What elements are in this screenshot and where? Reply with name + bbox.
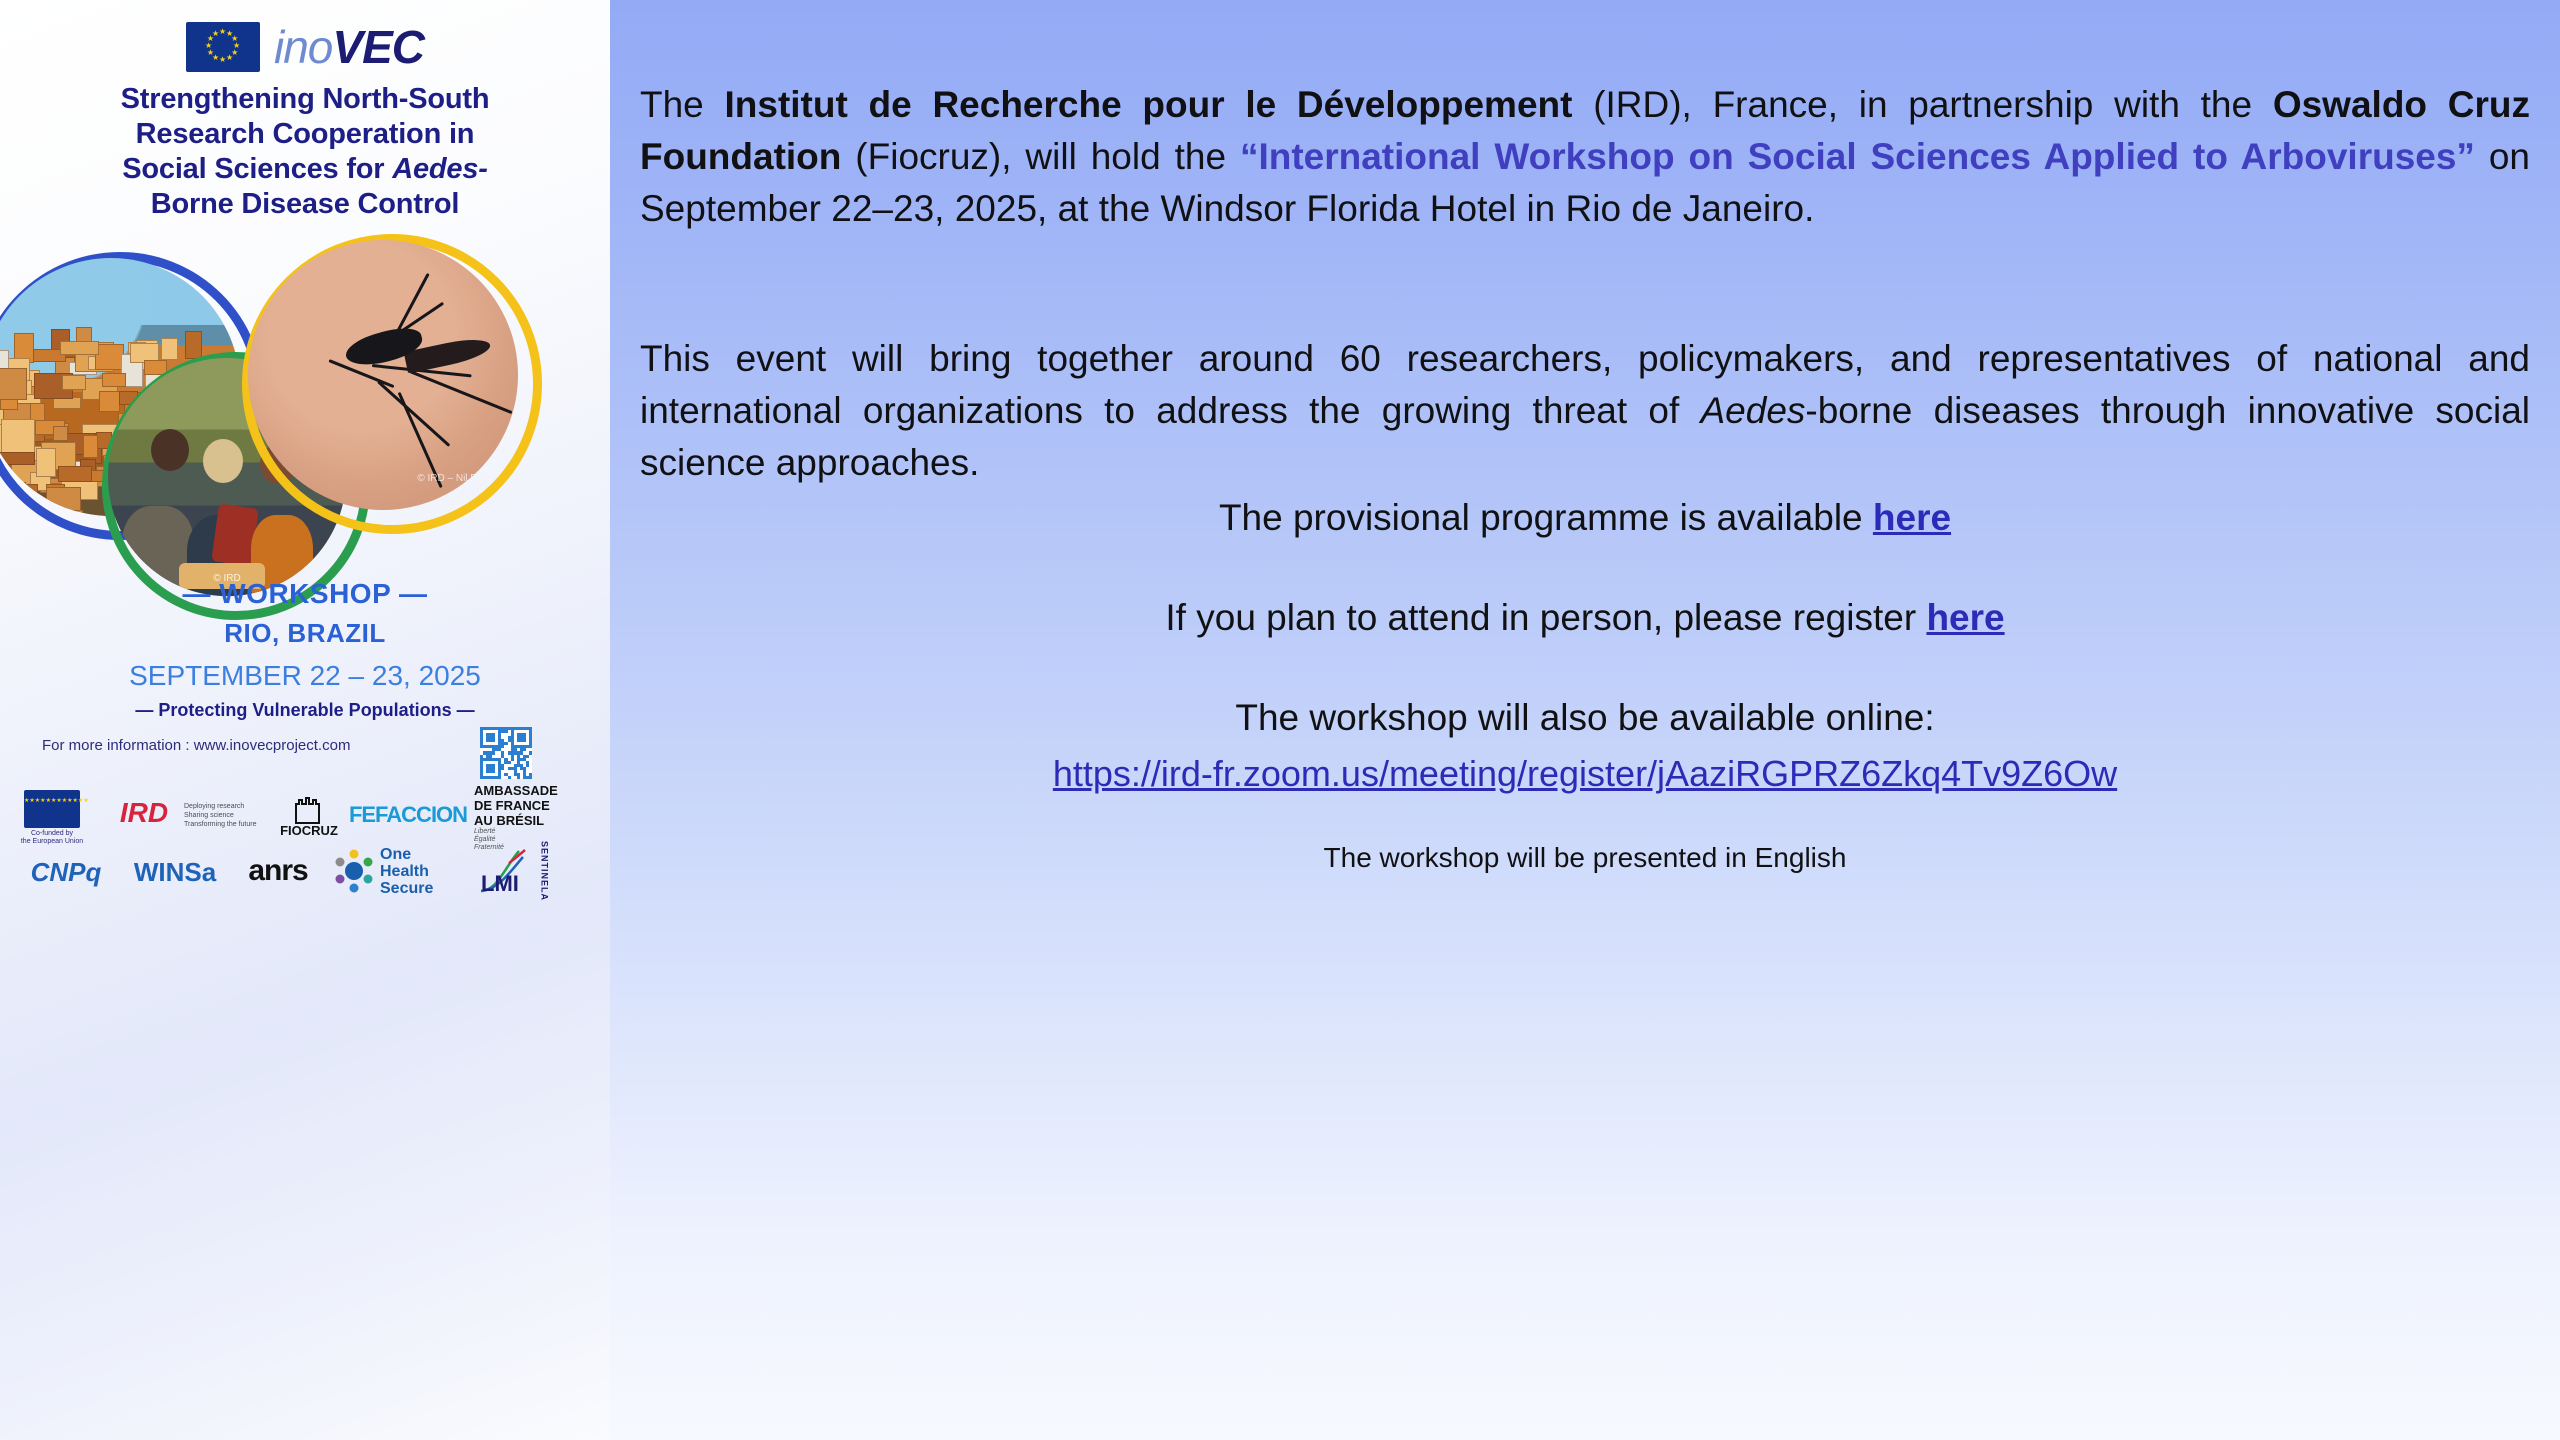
brand-suffix: VEC: [332, 21, 424, 73]
aedes-italic: Aedes: [1700, 390, 1805, 431]
sponsor-caption: Co-funded bythe European Union: [21, 830, 83, 846]
sponsor-fiocruz: FIOCRUZ: [276, 788, 342, 844]
sponsor-european-union: ★★★★★★★★★★★★ Co-funded bythe European Un…: [10, 790, 94, 846]
org-ird: Institut de Recherche pour le Développem…: [725, 84, 1573, 125]
poster-title-line-3: Social Sciences for Aedes-: [14, 152, 596, 187]
sponsor-lmi-sentinela: LMI SENTINELA: [468, 844, 560, 898]
sponsor-label: OneHealthSecure: [380, 846, 433, 897]
workshop-city: RIO, BRAZIL: [0, 618, 610, 649]
sponsor-cnpq: CNPq: [14, 850, 118, 894]
photo-collage: © IRD © IRD – Nil Rahola: [0, 248, 610, 564]
language-line: The workshop will be presented in Englis…: [640, 834, 2530, 882]
programme-link[interactable]: here: [1873, 497, 1951, 538]
aedes-italic: Aedes-: [392, 153, 488, 185]
sponsor-label: AMBASSADEDE FRANCEAU BRÉSIL: [474, 783, 558, 828]
one-health-wheel-icon: [332, 849, 376, 893]
svg-text:LMI: LMI: [481, 871, 519, 895]
workshop-dates: SEPTEMBER 22 – 23, 2025: [0, 660, 610, 692]
poster-title-line-1: Strengthening North-South: [14, 82, 596, 117]
fiocruz-castle-icon: [292, 794, 326, 824]
mosquito-photo-credit: © IRD – Nil Rahola: [417, 473, 502, 484]
register-link[interactable]: here: [1926, 597, 2004, 638]
sponsor-winsa: WINSa: [126, 850, 224, 894]
mosquito-photo: © IRD – Nil Rahola: [248, 240, 518, 510]
poster-title-line-2: Research Cooperation in: [14, 117, 596, 152]
eu-flag-icon: ★★★★★★★★★★★★: [24, 790, 80, 828]
workshop-tagline: — Protecting Vulnerable Populations —: [0, 700, 610, 721]
sponsor-ird: IRD: [108, 792, 180, 834]
sponsor-ambassade-de-france: AMBASSADEDE FRANCEAU BRÉSIL LibertéÉgali…: [474, 786, 578, 848]
sponsor-label: CNPq: [31, 859, 102, 886]
programme-line: The provisional programme is available h…: [640, 494, 2530, 542]
sponsor-label: IRD: [120, 799, 168, 828]
announcement-panel: The Institut de Recherche pour le Dévelo…: [610, 0, 2560, 1440]
eu-flag-icon: ★★★★★★★★★★★★: [186, 22, 260, 72]
zoom-url-line: https://ird-fr.zoom.us/meeting/register/…: [640, 750, 2530, 798]
brand-prefix: ino: [274, 21, 332, 73]
sponsor-label: anrs: [248, 856, 307, 887]
sponsor-label: FEFACCION: [349, 804, 467, 826]
zoom-registration-link[interactable]: https://ird-fr.zoom.us/meeting/register/…: [1053, 753, 2117, 794]
sponsor-label: WINSa: [134, 859, 216, 886]
qr-code-icon[interactable]: [480, 727, 532, 779]
poster-title-line-4: Borne Disease Control: [14, 187, 596, 222]
sponsor-logos: ★★★★★★★★★★★★ Co-funded bythe European Un…: [0, 786, 610, 901]
sponsor-label: FIOCRUZ: [280, 824, 338, 837]
more-information: For more information : www.inovecproject…: [42, 737, 462, 754]
online-availability-line: The workshop will also be available onli…: [640, 694, 2530, 742]
screenshot-root: ★★★★★★★★★★★★ inoVEC Strengthening North-…: [0, 0, 2560, 1440]
sponsor-one-health-secure: OneHealthSecure: [380, 846, 458, 896]
workshop-label: — WORKSHOP —: [0, 578, 610, 610]
lmi-curve-icon: LMI: [479, 847, 539, 895]
register-line: If you plan to attend in person, please …: [640, 594, 2530, 642]
poster-title: Strengthening North-South Research Coope…: [14, 82, 596, 222]
inovec-wordmark: inoVEC: [274, 24, 424, 70]
event-poster: ★★★★★★★★★★★★ inoVEC Strengthening North-…: [0, 0, 610, 1440]
inovec-logo: ★★★★★★★★★★★★ inoVEC: [0, 22, 610, 72]
paragraph-event-details: This event will bring together around 60…: [640, 333, 2530, 489]
sponsor-fefaccion: FEFACCION: [352, 800, 464, 830]
sponsor-ird-tagline: Deploying researchSharing scienceTransfo…: [184, 798, 262, 832]
sponsor-anrs: anrs: [232, 848, 324, 894]
workshop-title-highlight: “International Workshop on Social Scienc…: [1240, 136, 2475, 177]
sponsor-sublabel: SENTINELA: [539, 841, 548, 901]
sponsor-one-health-icon: [330, 848, 378, 894]
paragraph-intro: The Institut de Recherche pour le Dévelo…: [640, 79, 2530, 235]
